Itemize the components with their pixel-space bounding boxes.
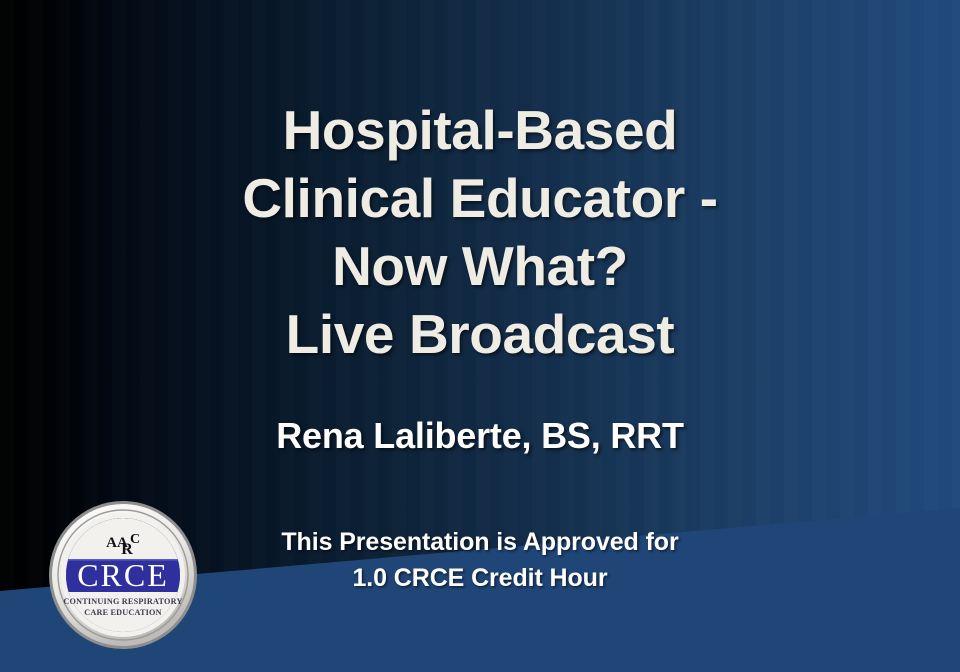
crce-seal-logo: AA C R CRCE CONTINUING RESPIRATORY CARE … bbox=[47, 499, 199, 651]
title-line-4: Live Broadcast bbox=[0, 300, 960, 368]
title-line-3: Now What? bbox=[0, 232, 960, 300]
title-line-2: Clinical Educator - bbox=[0, 164, 960, 232]
seal-caption-line-1: CONTINUING RESPIRATORY bbox=[63, 597, 182, 606]
presentation-slide: Hospital-Based Clinical Educator - Now W… bbox=[0, 0, 960, 672]
presenter-name: Rena Laliberte, BS, RRT bbox=[0, 415, 960, 457]
aarc-mark-letter-r: R bbox=[121, 541, 133, 558]
title-line-1: Hospital-Based bbox=[0, 96, 960, 164]
seal-caption-line-2: CARE EDUCATION bbox=[84, 608, 161, 617]
crce-seal-graphic: AA C R CRCE CONTINUING RESPIRATORY CARE … bbox=[47, 499, 199, 651]
slide-title: Hospital-Based Clinical Educator - Now W… bbox=[0, 96, 960, 368]
seal-acronym-text: CRCE bbox=[77, 557, 169, 593]
